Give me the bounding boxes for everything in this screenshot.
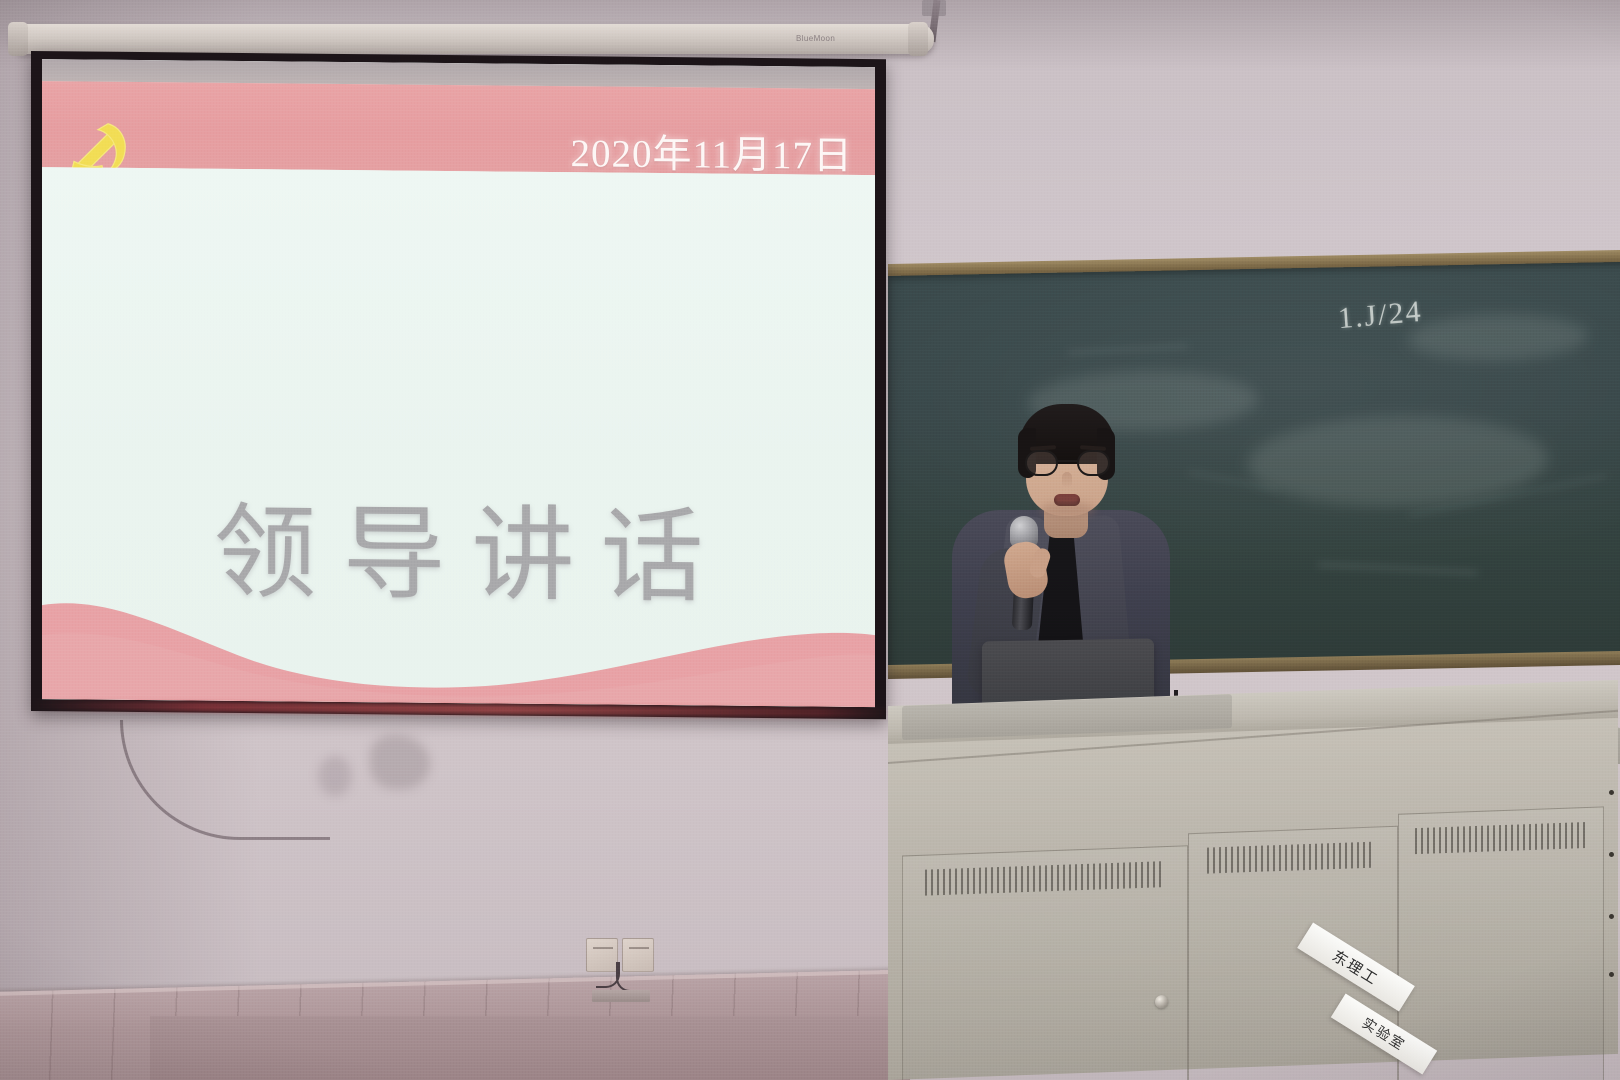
outlet-base-plate — [592, 990, 650, 1002]
roller-end-cap — [908, 22, 928, 56]
podium-door[interactable] — [1398, 806, 1604, 1080]
slide-wave-decoration — [42, 579, 875, 707]
slide-header-band: 2020年11月17日 — [42, 81, 875, 175]
podium-side-holes — [1606, 790, 1616, 980]
roller-end-cap — [8, 22, 28, 56]
presentation-slide: 2020年11月17日 领导讲话 — [42, 59, 875, 707]
podium-vents — [1415, 822, 1587, 854]
projection-screen: 2020年11月17日 领导讲话 — [31, 51, 886, 719]
podium-vents — [1207, 842, 1375, 874]
presenter-nose — [1062, 472, 1072, 488]
podium-door[interactable] — [902, 845, 1188, 1080]
podium-vents — [925, 861, 1161, 895]
stage-front-face — [150, 1016, 910, 1080]
roller-brand-text: BlueMoon — [796, 34, 835, 43]
podium-cabinet — [888, 718, 1618, 1080]
podium-door[interactable] — [1188, 826, 1398, 1080]
projection-surface: 2020年11月17日 领导讲话 — [42, 59, 875, 707]
glasses-lens — [1025, 450, 1058, 476]
outlet-cable — [616, 962, 642, 992]
wall-outlet-group — [586, 938, 658, 986]
classroom-photo-scene: 1.J/24 BlueMoon 2020年11月17日 — [0, 0, 1620, 1080]
glasses-bridge — [1058, 460, 1077, 462]
presenter-chin-shadow — [1040, 502, 1096, 518]
blackboard-chalk-text: 1.J/24 — [1337, 295, 1424, 336]
glasses-lens — [1077, 450, 1110, 476]
podium-door-knob[interactable] — [1155, 995, 1168, 1008]
